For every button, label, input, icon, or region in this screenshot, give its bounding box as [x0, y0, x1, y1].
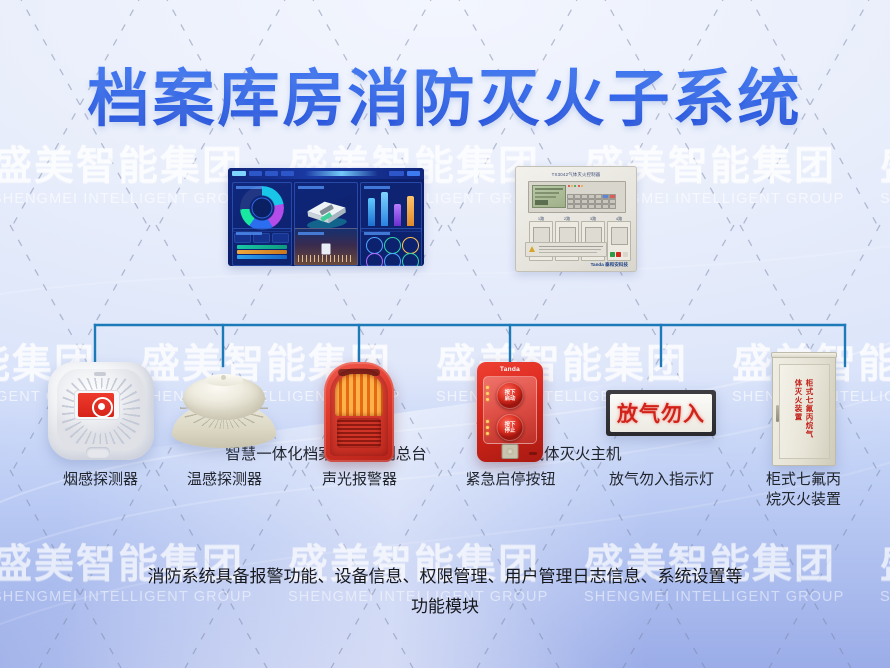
heat-detector-image [172, 374, 276, 454]
device-emergency-button: Tanda 按下启动 按下停止 [477, 362, 543, 462]
footer-line-2: 功能模块 [0, 592, 890, 622]
host-lcd-screen [532, 185, 566, 208]
label-sound-light-alarm: 声光报警器 [292, 470, 427, 490]
no-entry-indicator-image: 放气勿入 [606, 390, 716, 436]
footer-note: 消防系统具备报警功能、设备信息、权限管理、用户管理日志信息、系统设置等 功能模块 [0, 562, 890, 622]
device-no-entry-indicator: 放气勿入 [606, 390, 716, 436]
heat-detector-sensor-pin [221, 375, 226, 380]
host-warning-plate [525, 242, 607, 257]
dashboard-bar-chart-panel [360, 182, 422, 232]
dashboard-console-image [228, 168, 424, 266]
device-heat-detector [172, 374, 276, 454]
dashboard-screen [228, 168, 424, 266]
dashboard-photo-panel [294, 228, 358, 266]
sound-light-alarm-image [324, 362, 394, 462]
smoke-detector-test-button[interactable] [86, 447, 110, 458]
label-gas-cabinet-line2: 烷灭火装置 [736, 490, 871, 510]
label-no-entry-indicator: 放气勿入指示灯 [594, 470, 729, 490]
emergency-key-lock[interactable] [502, 444, 519, 459]
label-heat-detector: 温感探测器 [157, 470, 292, 490]
emergency-led-group-stop [486, 420, 489, 435]
gas-cabinet-image: 柜式七氟丙烷气体灭火装置 [772, 356, 836, 466]
footer-line-1: 消防系统具备报警功能、设备信息、权限管理、用户管理日志信息、系统设置等 [0, 562, 890, 592]
alarm-speaker-grille [337, 418, 381, 448]
device-gas-cabinet: 柜式七氟丙烷气体灭火装置 [772, 356, 836, 466]
dashboard-header-bar [228, 168, 424, 179]
label-emergency-button: 紧急启停按钮 [443, 470, 578, 490]
emergency-stop-button[interactable]: 按下停止 [497, 414, 524, 441]
page-title: 档案库房消防灭火子系统 [0, 48, 890, 138]
host-brand-label: Tanda 泰和安科技 [591, 262, 628, 268]
emergency-brand-label: Tanda [477, 366, 543, 373]
host-title: TX3042气体灭火控制器 [516, 172, 636, 178]
indicator-face: 放气勿入 [610, 394, 712, 432]
device-sound-light-alarm [324, 362, 394, 462]
smoke-detector-logo-icon [92, 397, 113, 418]
cabinet-text-label: 柜式七氟丙烷气体灭火装置 [793, 379, 815, 443]
dashboard-icon-grid-panel [360, 228, 422, 266]
emergency-led-group-start [486, 386, 489, 401]
poster-canvas: 盛美智能集团SHENGMEI INTELLIGENT GROUP 盛美智能集团S… [0, 0, 890, 668]
dashboard-wave-panel [232, 228, 292, 266]
emergency-reset-slot [529, 452, 537, 455]
label-gas-cabinet-line1: 柜式七氟丙 [736, 470, 871, 490]
indicator-text: 放气勿入 [617, 398, 705, 428]
device-smoke-detector [48, 362, 154, 460]
dashboard-gauge-panel [232, 182, 292, 232]
smoke-detector-image [48, 362, 154, 460]
alarm-strobe-panel [335, 374, 383, 416]
top-devices-row: TX3042气体灭火控制器 [0, 166, 890, 306]
host-zone-module-4[interactable]: 4路 [607, 221, 631, 261]
smoke-detector-vent-slot [94, 372, 106, 376]
emergency-button-image: Tanda 按下启动 按下停止 [477, 362, 543, 462]
host-display-area [528, 181, 626, 213]
cabinet-handle[interactable] [776, 405, 779, 422]
label-smoke-detector: 烟感探测器 [33, 470, 168, 490]
emergency-start-button[interactable]: 按下启动 [497, 382, 524, 409]
gas-extinguishing-host-image: TX3042气体灭火控制器 [515, 166, 637, 272]
host-keypad[interactable] [567, 185, 622, 209]
